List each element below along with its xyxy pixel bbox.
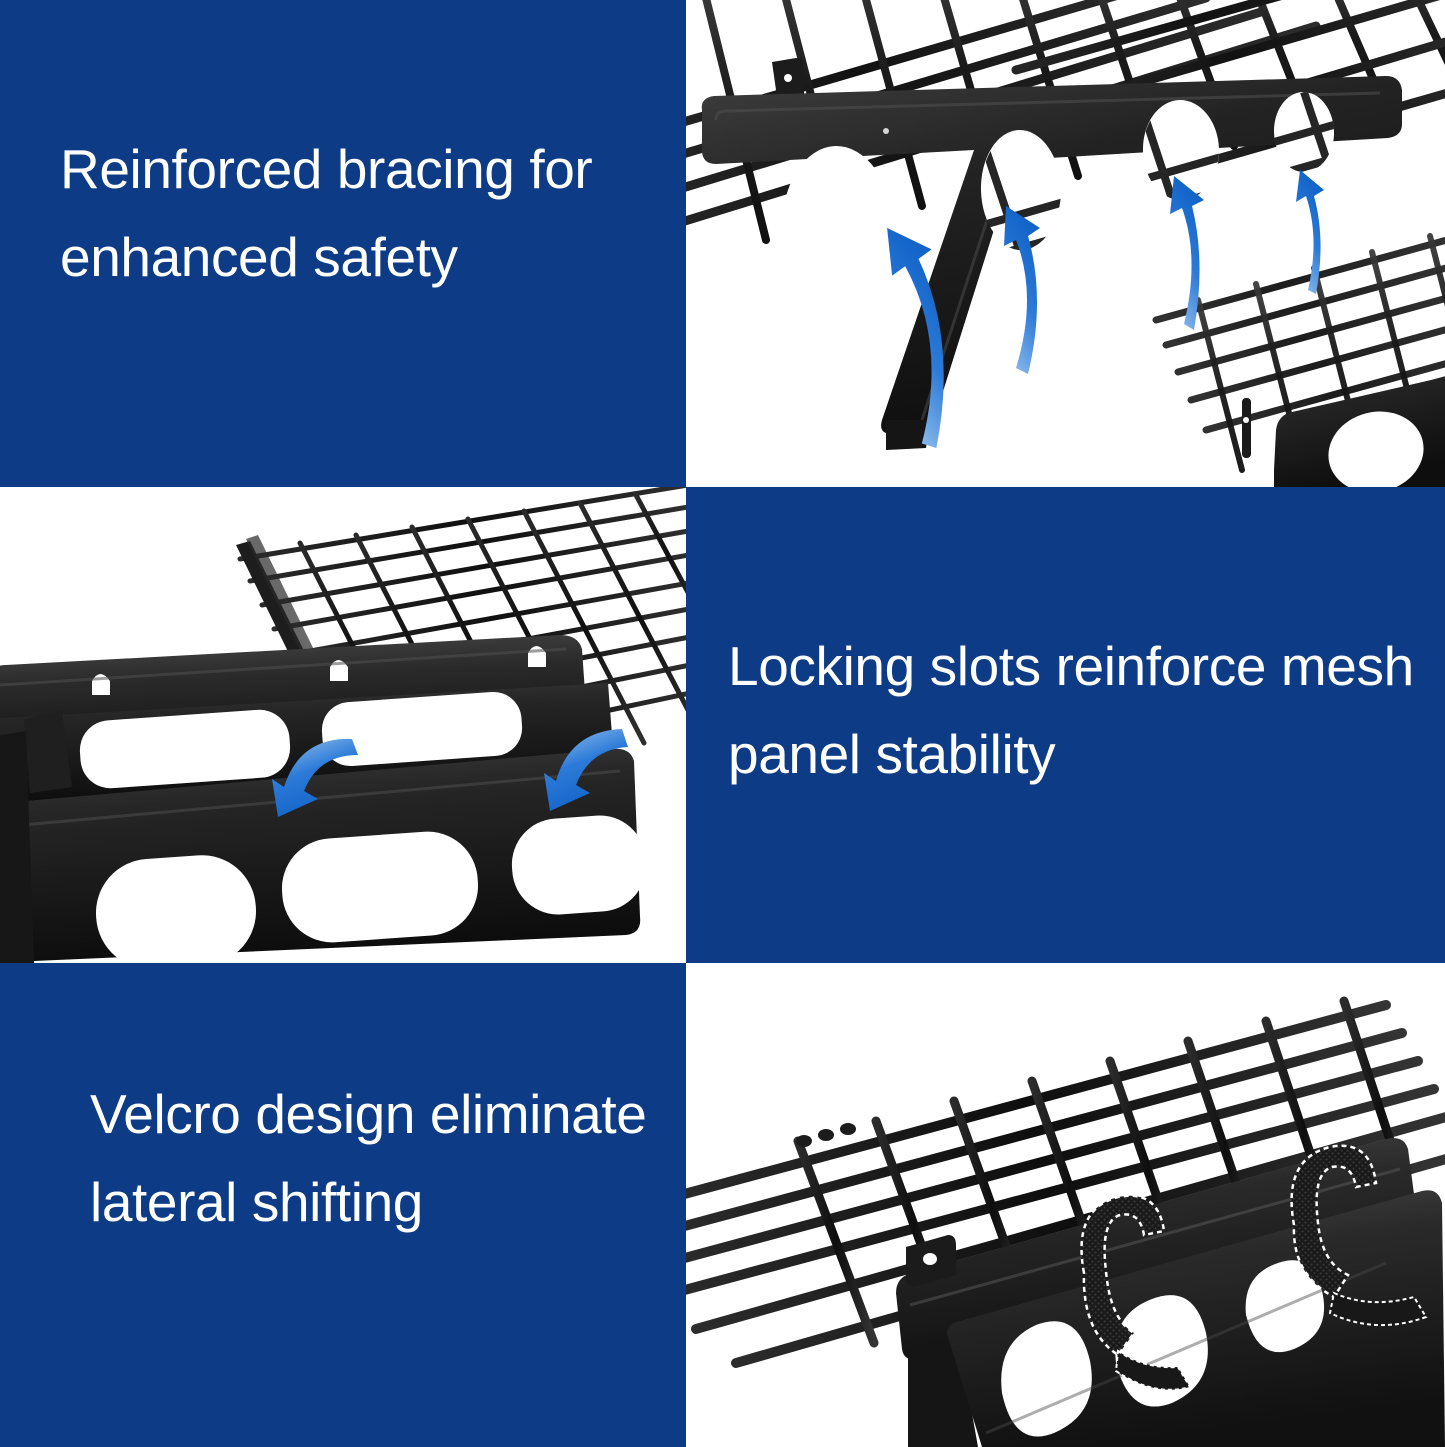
feature-cell-locking-slots: Locking slots reinforce mesh panel stabi… (686, 487, 1445, 963)
velcro-illustration (686, 963, 1445, 1447)
feature-photo-locking-slots (0, 487, 686, 963)
caption-locking-slots: Locking slots reinforce mesh panel stabi… (728, 622, 1428, 798)
feature-cell-velcro-design: Velcro design eliminate lateral shifting (0, 963, 686, 1447)
bracing-illustration (686, 0, 1445, 487)
locking-slots-illustration (0, 487, 686, 963)
bracket-foot (886, 420, 930, 450)
feature-cell-reinforced-bracing: Reinforced bracing for enhanced safety (0, 0, 686, 487)
product-image-bracing (686, 0, 1445, 487)
product-image-velcro (686, 963, 1445, 1447)
caption-reinforced-bracing: Reinforced bracing for enhanced safety (60, 125, 660, 301)
feature-grid: Reinforced bracing for enhanced safety (0, 0, 1445, 1447)
caption-velcro-design: Velcro design eliminate lateral shifting (90, 1070, 670, 1246)
product-image-locking-slots (0, 487, 686, 963)
feature-photo-reinforced-bracing (686, 0, 1445, 487)
feature-photo-velcro-design (686, 963, 1445, 1447)
